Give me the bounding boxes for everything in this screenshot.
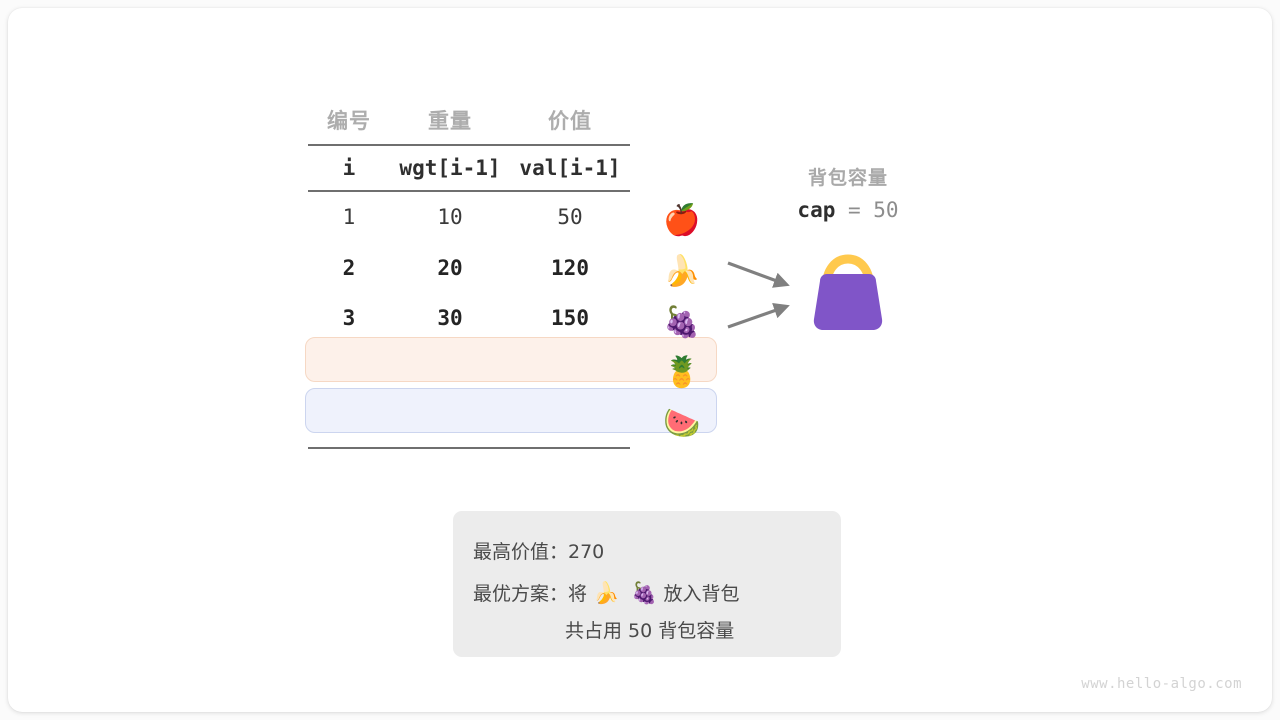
result-plan-suffix: 放入背包 [657,583,739,605]
header-wgt: wgt[i-1] [390,146,510,190]
result-box: 最高价值：270 最优方案：将 🍌 🍇 放入背包 共占用 50 背包容量 [453,511,841,657]
table-header-code: i wgt[i-1] val[i-1] [308,146,630,190]
header-i: i [308,146,390,190]
grapes-icon: 🍇 [660,308,704,338]
cell-value: 150 [510,293,630,344]
result-used-capacity: 共占用 50 背包容量 [565,616,734,643]
cell-value: 50 [510,192,630,243]
row-highlight-orange [305,337,717,382]
header-val: val[i-1] [510,146,630,190]
spacer [619,583,631,605]
capacity-key: cap [797,198,835,222]
capacity-expr: = 50 [835,198,898,222]
table-row: 2 20 120 [308,243,630,294]
result-max-value: 最高价值：270 [473,537,604,564]
watermark: www.hello-algo.com [1081,676,1242,692]
cell-weight: 30 [390,293,510,344]
result-plan-prefix: 最优方案：将 [473,583,593,605]
arrow-row2-to-bag [728,263,785,284]
cell-weight: 10 [390,192,510,243]
banana-icon: 🍌 [593,581,619,605]
grapes-icon: 🍇 [631,581,657,605]
handbag-icon [798,243,898,343]
arrow-row3-to-bag [728,307,785,327]
pineapple-icon: 🍍 [660,358,704,388]
header-value-cn: 价值 [510,96,630,144]
table-header-chinese: 编号 重量 价值 [308,96,630,144]
cell-index: 3 [308,293,390,344]
table-row: 3 30 150 [308,293,630,344]
table-bottom-rule [308,447,630,449]
apple-icon: 🍎 [660,206,704,236]
capacity-label: 背包容量 [748,163,948,190]
bag-body [814,274,882,330]
cell-index: 2 [308,243,390,294]
header-weight-cn: 重量 [390,96,510,144]
figure-canvas: 编号 重量 价值 i wgt[i-1] val[i-1] 1 10 [0,0,1280,720]
table-row: 1 10 50 [308,192,630,243]
result-best-plan: 最优方案：将 🍌 🍇 放入背包 [473,579,740,606]
watermelon-icon: 🍉 [660,409,704,439]
figure-card: 编号 重量 价值 i wgt[i-1] val[i-1] 1 10 [8,8,1272,712]
banana-icon: 🍌 [660,257,704,287]
cell-weight: 20 [390,243,510,294]
capacity-value: cap = 50 [748,198,948,222]
header-id-cn: 编号 [308,96,390,144]
cell-index: 1 [308,192,390,243]
knapsack-table: 编号 重量 价值 i wgt[i-1] val[i-1] 1 10 [308,96,630,445]
row-highlight-blue [305,388,717,433]
cell-value: 120 [510,243,630,294]
